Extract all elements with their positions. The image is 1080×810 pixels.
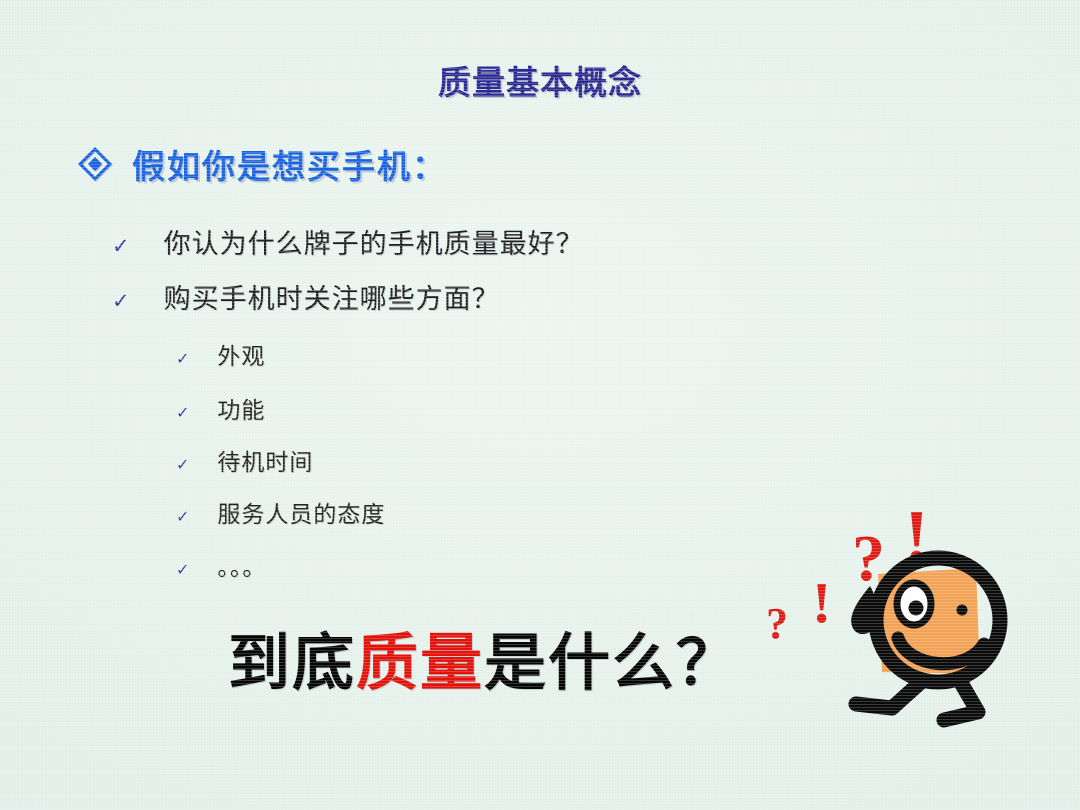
exclamation-mark-icon-1: ! [812, 570, 831, 635]
level3-item-3: ✓ 服务人员的态度 [176, 495, 385, 529]
check-mark-icon: ✓ [176, 509, 189, 525]
level3-item-0: ✓ 外观 [176, 337, 265, 371]
check-mark-icon: ✓ [176, 457, 189, 473]
check-mark-icon: ✓ [112, 236, 130, 257]
level1-bullet-label: 假如你是想买手机： [132, 140, 447, 188]
level3-item-label: 服务人员的态度 [217, 495, 385, 529]
level3-item-label: 外观 [217, 337, 265, 371]
diamond-in-diamond-bullet-icon [80, 149, 110, 179]
right-eye-dot [957, 605, 968, 616]
headline-prefix: 到底 [228, 629, 356, 698]
check-mark-icon: ✓ [176, 562, 189, 578]
level3-item-1: ✓ 功能 [176, 391, 265, 425]
level1-bullet-row: 假如你是想买手机： [80, 140, 447, 188]
level2-item-0: ✓ 你认为什么牌子的手机质量最好？ [112, 222, 584, 261]
level3-item-label: 功能 [217, 391, 265, 425]
left-eye-pupil [909, 601, 924, 616]
level2-item-label: 购买手机时关注哪些方面？ [164, 277, 500, 316]
confused-stick-figure-illustration: ? ! ? ! [752, 498, 1052, 738]
level3-item-4: ✓ 。。。 [176, 548, 266, 582]
left-leg [856, 681, 922, 708]
check-mark-icon: ✓ [176, 351, 189, 367]
headline-emphasis: 质量 [356, 629, 484, 698]
check-mark-icon: ✓ [112, 291, 130, 312]
question-mark-icon-1: ? [766, 599, 788, 648]
level3-item-label: 待机时间 [217, 443, 313, 477]
check-mark-icon: ✓ [176, 405, 189, 421]
headline-question: 到底质量是什么？ [228, 612, 740, 702]
level3-item-2: ✓ 待机时间 [176, 443, 313, 477]
headline-suffix: 是什么？ [484, 629, 740, 698]
level3-item-label: 。。。 [217, 548, 266, 582]
level2-item-1: ✓ 购买手机时关注哪些方面？ [112, 277, 500, 316]
page-title: 质量基本概念 [0, 56, 1080, 104]
slide-canvas: 质量基本概念 假如你是想买手机： ✓ 你认为什么牌子的手机质量最好？ ✓ 购买手… [0, 0, 1080, 810]
level2-item-label: 你认为什么牌子的手机质量最好？ [164, 222, 584, 261]
